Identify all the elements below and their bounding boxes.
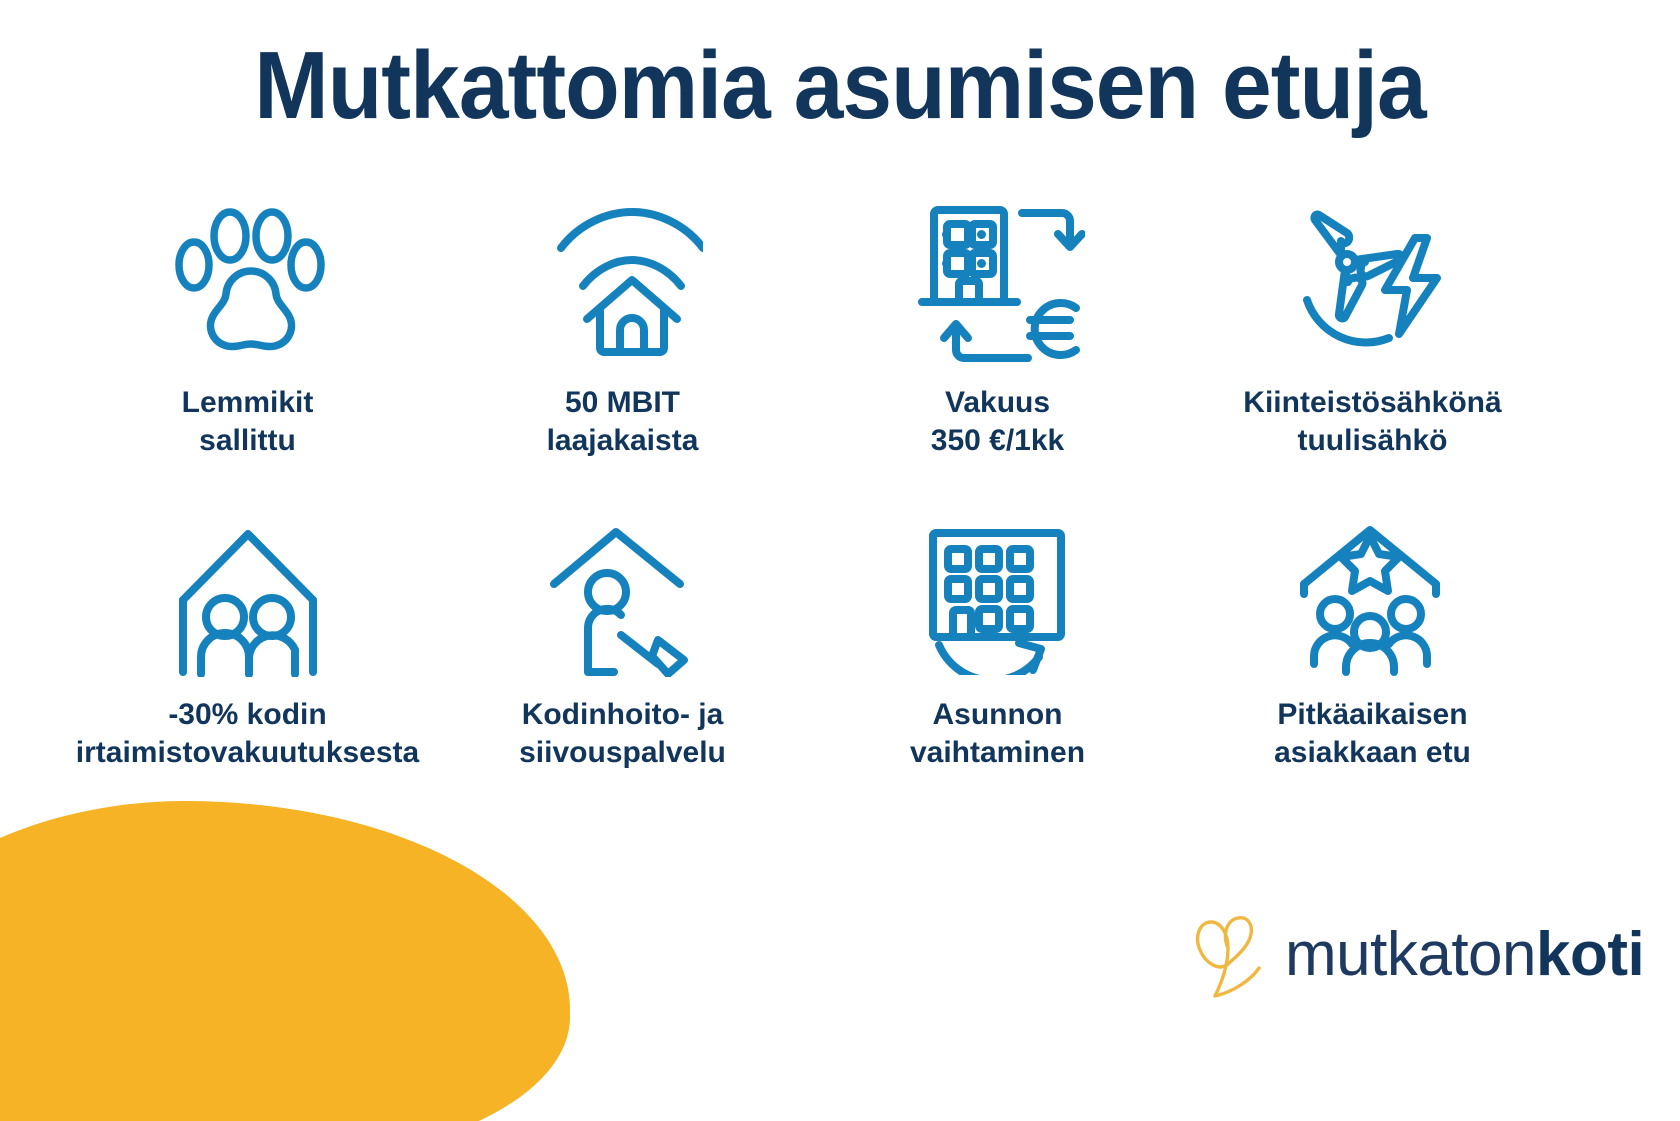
paw-print-icon [168, 195, 328, 370]
benefit-item-loyalty: Pitkäaikaisen asiakkaan etu [1185, 517, 1560, 817]
benefit-label: 50 MBIT laajakaista [547, 384, 699, 461]
heart-swirl-icon [1185, 900, 1271, 1010]
house-family-icon [165, 517, 330, 682]
benefit-label: Asunnon vaihtaminen [910, 696, 1085, 773]
wifi-house-icon [543, 195, 703, 370]
benefit-item-apartment-swap: Asunnon vaihtaminen [810, 517, 1185, 817]
apartment-swap-icon [915, 517, 1080, 682]
benefit-item-deposit: Vakuus 350 €/1kk [810, 195, 1185, 495]
benefit-label: Pitkäaikaisen asiakkaan etu [1274, 696, 1471, 773]
brand-logo: mutkatonkoti [1185, 900, 1644, 1010]
building-euro-exchange-icon [910, 195, 1085, 370]
benefit-label: Vakuus 350 €/1kk [931, 384, 1064, 461]
logo-text-light: mutkaton [1285, 920, 1536, 989]
benefit-label: Kodinhoito- ja siivouspalvelu [519, 696, 726, 773]
benefit-item-pets: Lemmikit sallittu [60, 195, 435, 495]
logo-wordmark: mutkatonkoti [1285, 924, 1644, 986]
yellow-blob-shape [0, 801, 570, 1121]
wind-turbine-bolt-icon [1285, 195, 1460, 370]
roof-star-people-icon [1290, 517, 1455, 682]
benefit-item-insurance: -30% kodin irtaimistovakuutuksesta [60, 517, 435, 817]
benefit-label: Lemmikit sallittu [182, 384, 314, 461]
roof-cleaning-person-icon [540, 517, 705, 682]
infographic-page: Mutkattomia asumisen etuja Lemmikit sall… [0, 0, 1680, 1121]
logo-text-bold: koti [1536, 920, 1644, 989]
benefit-label: Kiinteistösähkönä tuulisähkö [1243, 384, 1501, 461]
benefit-label: -30% kodin irtaimistovakuutuksesta [76, 696, 419, 773]
benefit-item-windpower: Kiinteistösähkönä tuulisähkö [1185, 195, 1560, 495]
benefit-item-cleaning: Kodinhoito- ja siivouspalvelu [435, 517, 810, 817]
benefits-grid: Lemmikit sallittu 50 MBIT laajakaista [60, 195, 1560, 817]
page-title: Mutkattomia asumisen etuja [59, 38, 1621, 134]
benefit-item-broadband: 50 MBIT laajakaista [435, 195, 810, 495]
